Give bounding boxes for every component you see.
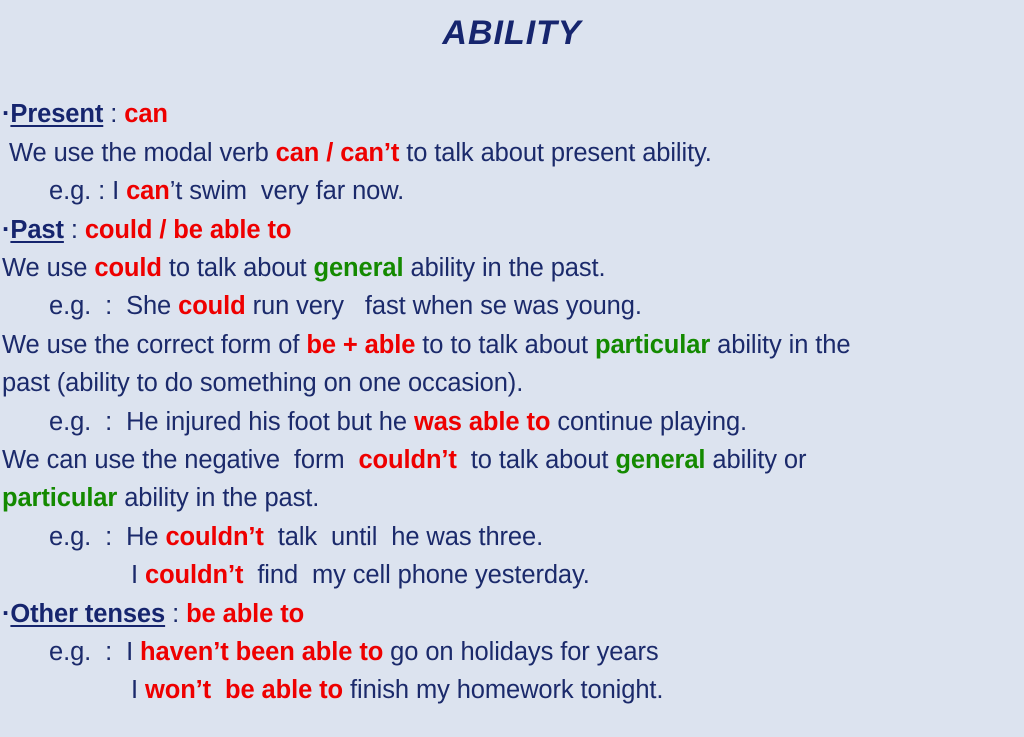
example-other-tenses-2-text-1: I [131, 676, 145, 704]
heading-separator-past: : [64, 216, 85, 244]
example-other-tenses-1-keyword: haven’t been able to [140, 638, 383, 666]
example-other-tenses-1-label: e.g. : [49, 638, 126, 666]
rule-past-3-continuation: particular ability in the past. [2, 479, 1020, 517]
example-past-4-text-1: I [131, 561, 145, 589]
example-other-tenses-2-keyword: won’t be able to [145, 676, 343, 704]
heading-label-present: Present [10, 100, 103, 128]
example-other-tenses-1-text-1: I [126, 638, 140, 666]
rule-past-3-text-2: to talk about [457, 446, 616, 474]
rule-past-3-continuation-text: ability in the past. [117, 484, 319, 512]
example-present-keyword: can [126, 177, 170, 205]
example-past-3-keyword: couldn’t [165, 523, 263, 551]
rule-present-text-1: We use the modal verb [2, 139, 276, 167]
example-present-label: e.g. : [49, 177, 112, 205]
example-past-1-keyword: could [178, 292, 246, 320]
example-past-2-text-1: He injured his foot but he [126, 408, 414, 436]
rule-present: We use the modal verb can / can’t to tal… [2, 134, 1020, 172]
heading-separator-present: : [103, 100, 124, 128]
page-title: ABILITY [0, 0, 1024, 52]
rule-past-2-continuation: past (ability to do something on one occ… [2, 364, 1020, 402]
example-past-2-text-2: continue playing. [550, 408, 747, 436]
example-past-1-text-1: She [126, 292, 178, 320]
rule-past-3-green: general [615, 446, 705, 474]
example-past-1-text-2: run very fast when se was young. [246, 292, 642, 320]
rule-past-2-green: particular [595, 331, 710, 359]
example-other-tenses-1-text-2: go on holidays for years [383, 638, 658, 666]
rule-past-3-continuation-green: particular [2, 484, 117, 512]
example-other-tenses-1: e.g. : I haven’t been able to go on holi… [2, 633, 1020, 671]
example-other-tenses-2: I won’t be able to finish my homework to… [2, 671, 1020, 709]
example-past-2-label: e.g. : [49, 408, 126, 436]
rule-past-3-keyword: couldn’t [358, 446, 456, 474]
rule-past-1: We use could to talk about general abili… [2, 249, 1020, 287]
section-heading-present: ·Present : can [2, 95, 1020, 133]
rule-past-2-keyword: be + able [306, 331, 415, 359]
heading-keyword-other-tenses: be able to [186, 600, 304, 628]
rule-past-1-text-2: to talk about [162, 254, 314, 282]
example-past-1-label: e.g. : [49, 292, 126, 320]
example-other-tenses-2-text-2: finish my homework tonight. [343, 676, 663, 704]
heading-label-other-tenses: Other tenses [10, 600, 165, 628]
section-heading-other-tenses: ·Other tenses : be able to [2, 595, 1020, 633]
rule-present-keyword: can / can’t [276, 139, 400, 167]
rule-past-1-text-1: We use [2, 254, 94, 282]
rule-past-3: We can use the negative form couldn’t to… [2, 441, 1020, 479]
rule-past-1-keyword: could [94, 254, 162, 282]
rule-past-3-text-3: ability or [705, 446, 806, 474]
rule-past-2-text-3: ability in the [710, 331, 850, 359]
example-past-3-text-1: He [126, 523, 165, 551]
example-present-text-1: I [112, 177, 126, 205]
rule-past-2-text-2: to to talk about [415, 331, 595, 359]
heading-keyword-present: can [124, 100, 168, 128]
rule-past-2: We use the correct form of be + able to … [2, 326, 1020, 364]
example-past-1: e.g. : She could run very fast when se w… [2, 287, 1020, 325]
section-heading-past: ·Past : could / be able to [2, 211, 1020, 249]
example-past-3: e.g. : He couldn’t talk until he was thr… [2, 518, 1020, 556]
example-past-4-keyword: couldn’t [145, 561, 243, 589]
example-past-2: e.g. : He injured his foot but he was ab… [2, 403, 1020, 441]
example-past-3-label: e.g. : [49, 523, 126, 551]
slide-ability: ABILITY ·Present : can We use the modal … [0, 0, 1024, 737]
example-present-text-2: ’t swim very far now. [170, 177, 404, 205]
rule-past-1-green: general [313, 254, 403, 282]
heading-separator-other-tenses: : [165, 600, 186, 628]
slide-body: ·Present : can We use the modal verb can… [0, 95, 1024, 710]
rule-present-text-2: to talk about present ability. [399, 139, 712, 167]
heading-label-past: Past [10, 216, 63, 244]
example-past-4: I couldn’t find my cell phone yesterday. [2, 556, 1020, 594]
example-present: e.g. : I can’t swim very far now. [2, 172, 1020, 210]
rule-past-1-text-3: ability in the past. [404, 254, 606, 282]
heading-keyword-past: could / be able to [85, 216, 291, 244]
rule-past-3-text-1: We can use the negative form [2, 446, 358, 474]
example-past-2-keyword: was able to [414, 408, 550, 436]
example-past-4-text-2: find my cell phone yesterday. [243, 561, 589, 589]
example-past-3-text-2: talk until he was three. [264, 523, 543, 551]
rule-past-2-text-1: We use the correct form of [2, 331, 306, 359]
